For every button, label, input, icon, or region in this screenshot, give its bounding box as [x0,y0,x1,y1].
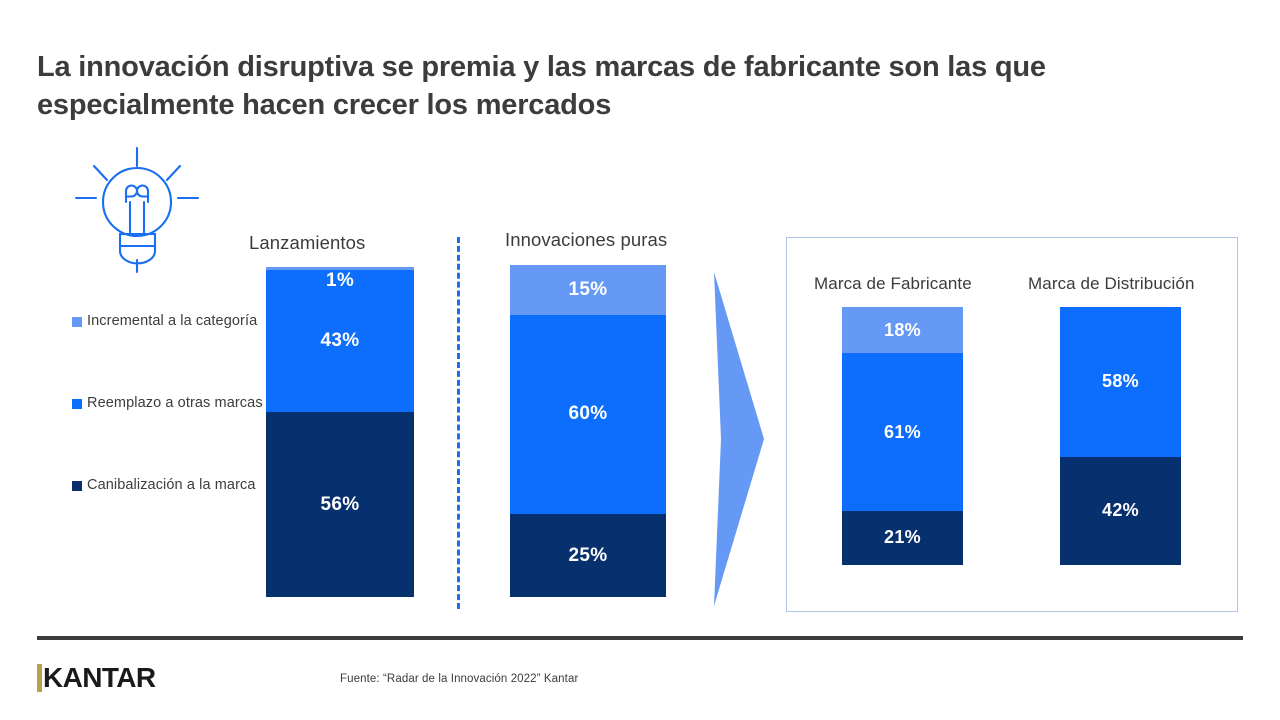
legend-label-canibalizacion: Canibalización a la marca [87,476,256,496]
slide-canvas: La innovación disruptiva se premia y las… [0,0,1280,720]
segment-canibalizacion: 21% [842,511,963,565]
kantar-logo: KANTAR [37,664,156,692]
bar-label-distribucion: Marca de Distribución [1028,274,1195,294]
source-note: Fuente: “Radar de la Innovación 2022” Ka… [340,673,578,685]
page-title: La innovación disruptiva se premia y las… [37,48,1197,125]
legend-item-reemplazo: Reemplazo a otras marcas [72,394,272,414]
vertical-dashed-divider [457,237,460,609]
segment-incremental: 18% [842,307,963,353]
legend-label-reemplazo: Reemplazo a otras marcas [87,394,263,414]
legend-item-incremental: Incremental a la categoría [72,312,272,332]
segment-label-incremental-lanzamientos: 1% [266,270,414,292]
arrow-right-icon [714,272,764,606]
legend-swatch-incremental [72,317,82,327]
segment-reemplazo: 61% [842,353,963,510]
stacked-bar-distribucion: 58% 42% [1060,307,1181,565]
segment-canibalizacion: 25% [510,514,666,597]
legend-swatch-canibalizacion [72,481,82,491]
bar-label-fabricante: Marca de Fabricante [814,274,972,294]
logo-accent-bar [37,664,42,692]
lightbulb-icon [66,142,216,292]
stacked-bar-lanzamientos: 43% 56% [266,267,414,597]
segment-reemplazo: 60% [510,315,666,514]
bar-label-lanzamientos: Lanzamientos [249,232,365,254]
segment-reemplazo: 58% [1060,307,1181,457]
logo-wordmark: KANTAR [43,664,156,692]
stacked-bar-fabricante: 18% 61% 21% [842,307,963,565]
footer-divider [37,636,1243,640]
legend-swatch-reemplazo [72,399,82,409]
bar-label-innovaciones: Innovaciones puras [505,229,667,251]
legend-label-incremental: Incremental a la categoría [87,312,257,332]
legend-item-canibalizacion: Canibalización a la marca [72,476,272,496]
stacked-bar-innovaciones: 15% 60% 25% [510,265,666,597]
legend: Incremental a la categoría Reemplazo a o… [72,312,272,558]
segment-canibalizacion: 56% [266,412,414,597]
segment-incremental: 15% [510,265,666,315]
segment-canibalizacion: 42% [1060,457,1181,565]
